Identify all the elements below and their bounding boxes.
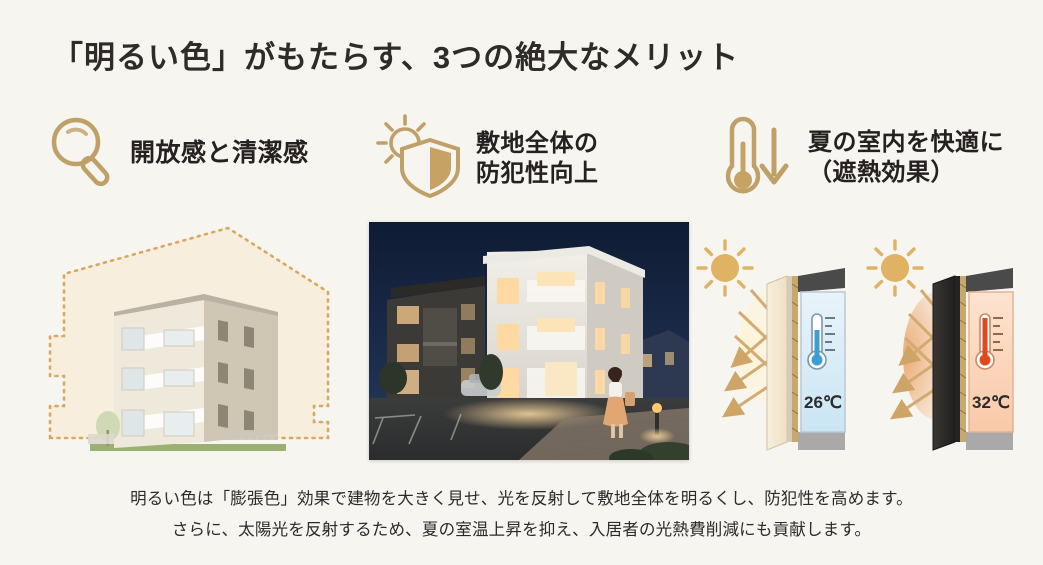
heat-shield-comparison: 26℃ (695, 228, 1035, 464)
feature-label-heatshield-line1: 夏の室内を快適に (808, 129, 1004, 156)
feature-label-openness: 開放感と清潔感 (130, 138, 309, 169)
feature-label-security: 敷地全体の 防犯性向上 (476, 129, 599, 188)
feature-label-security-line1: 敷地全体の (476, 130, 599, 157)
expansion-illustration (28, 216, 368, 474)
slide-root: 「明るい色」がもたらす、3つの絶大なメリット 開放感と清潔感 (0, 0, 1043, 565)
feature-label-security-line2: 防犯性向上 (476, 160, 599, 187)
feature-row: 開放感と清潔感 (0, 108, 1043, 203)
caption-line-1: 明るい色は「膨張色」効果で建物を大きく見せ、光を反射して敷地全体を明るくし、防犯… (0, 484, 1043, 515)
night-exterior-photo (369, 222, 689, 460)
feature-item-security: 敷地全体の 防犯性向上 (372, 110, 599, 207)
feature-label-heatshield: 夏の室内を快適に （遮熱効果） (808, 128, 1004, 187)
caption-line-2: さらに、太陽光を反射するため、夏の室温上昇を抑え、入居者の光熱費削減にも貢献しま… (0, 515, 1043, 546)
feature-item-openness: 開放感と清潔感 (46, 112, 309, 195)
visual-row: 26℃ (0, 210, 1043, 478)
page-title: 「明るい色」がもたらす、3つの絶大なメリット (52, 32, 739, 77)
feature-item-heatshield: 夏の室内を快適に （遮熱効果） (710, 110, 1004, 205)
thermometer-down-arrow-icon (710, 110, 796, 205)
caption-block: 明るい色は「膨張色」効果で建物を大きく見せ、光を反射して敷地全体を明るくし、防犯… (0, 484, 1043, 545)
sun-shield-icon (372, 110, 464, 207)
magnifier-icon (46, 112, 118, 195)
feature-label-heatshield-line2: （遮熱効果） (808, 159, 955, 186)
temperature-light-wall: 26℃ (804, 393, 842, 412)
temperature-dark-wall: 32℃ (972, 393, 1010, 412)
